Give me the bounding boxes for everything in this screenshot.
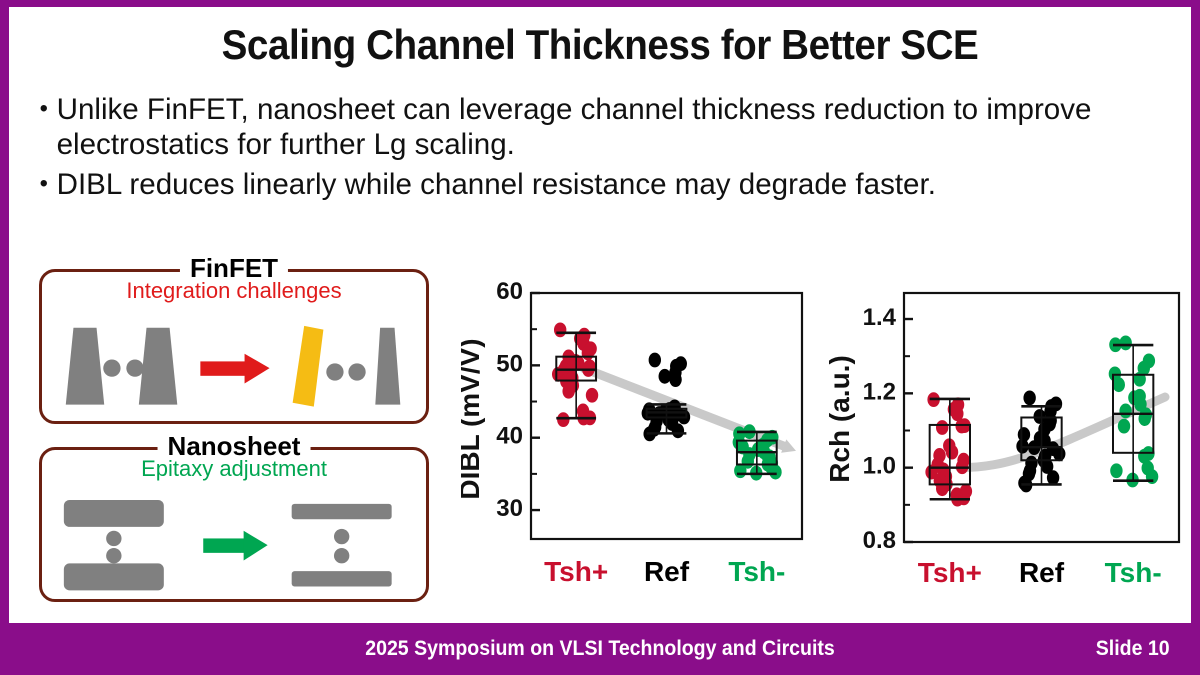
nanosheet-bar [292,571,392,586]
data-point [769,465,781,480]
data-point [672,423,684,438]
x-axis-category-label[interactable]: Tsh+ [918,557,982,588]
data-point [1118,419,1130,434]
series-group-Tsh+ [925,392,972,506]
x-axis-category-label[interactable]: Ref [644,556,690,587]
bullet-item: • Unlike FinFET, nanosheet can leverage … [31,93,1164,162]
fin-shape [375,328,400,405]
boxplot-Tsh+ [930,399,970,499]
y-axis-label: DIBL (mV/V) [461,338,485,499]
data-point [557,412,569,427]
bullet-marker-icon: • [31,168,57,200]
page-title: Scaling Channel Thickness for Better SCE [56,21,1143,69]
data-point [1110,463,1122,478]
data-point [1053,446,1065,461]
green-arrow-icon [203,531,267,561]
red-arrow-icon [200,354,269,384]
data-point [734,463,746,478]
data-point [582,346,594,361]
nanosheet-diagram-panel: Nanosheet Epitaxy adjustment [39,447,429,602]
channel-dot-icon [348,363,365,380]
channel-dot-icon [334,548,349,563]
bullet-text: DIBL reduces linearly while channel resi… [57,168,1164,203]
y-axis-label: Rch (a.u.) [829,355,855,483]
y-axis-tick-label: 0.8 [863,527,896,554]
dibl-boxplot-chart: 30405060DIBL (mV/V)Tsh+RefTsh- [461,269,821,599]
data-point [659,369,671,384]
nanosheet-bar [64,500,164,527]
x-axis-category-label[interactable]: Tsh- [1105,557,1162,588]
bullet-item: • DIBL reduces linearly while channel re… [31,168,1164,203]
data-point [554,323,566,338]
channel-dot-icon [103,359,120,376]
x-axis-category-label[interactable]: Ref [1019,557,1065,588]
tilted-fin-shape [293,326,324,407]
nanosheet-art [42,450,426,599]
data-point [946,445,958,460]
fin-shape [66,328,104,405]
data-point [1119,404,1131,419]
nanosheet-bar [292,504,392,519]
slide-footer: 2025 Symposium on VLSI Technology and Ci… [0,623,1200,675]
channel-dot-icon [106,531,121,546]
y-axis-tick-label: 60 [496,278,523,305]
x-axis-category-label[interactable]: Tsh+ [544,556,608,587]
footer-conference-text: 2025 Symposium on VLSI Technology and Ci… [42,637,1158,661]
finfet-diagram-panel: FinFET Integration challenges [39,269,429,424]
y-axis-tick-label: 50 [496,350,523,377]
data-point [649,353,661,368]
data-point [955,419,967,434]
y-axis-tick-label: 1.2 [863,378,896,405]
x-axis-category-label[interactable]: Tsh- [728,556,785,587]
rch-boxplot-chart: 0.81.01.21.4Rch (a.u.)Tsh+RefTsh- [829,269,1199,599]
channel-dot-icon [326,363,343,380]
finfet-art [42,272,426,421]
y-axis-tick-label: 40 [496,423,523,450]
data-point [936,420,948,435]
fin-shape [139,328,177,405]
y-axis-tick-label: 30 [496,495,523,522]
data-point [669,372,681,387]
slide-root: Scaling Channel Thickness for Better SCE… [0,0,1200,675]
y-axis-tick-label: 1.4 [863,304,897,331]
y-axis-tick-label: 1.0 [863,453,896,480]
bullet-text: Unlike FinFET, nanosheet can leverage ch… [57,93,1164,162]
channel-dot-icon [126,359,143,376]
data-point [1047,470,1059,485]
channel-dot-icon [334,529,349,544]
bullet-list: • Unlike FinFET, nanosheet can leverage … [31,93,1181,209]
data-point [1023,391,1035,406]
nanosheet-bar [64,563,164,590]
data-point [1113,377,1125,392]
footer-slide-number: Slide 10 [1095,637,1169,661]
data-point [562,384,574,399]
series-group-Tsh+ [552,323,598,428]
channel-dot-icon [106,548,121,563]
bullet-marker-icon: • [31,93,57,125]
data-point [586,388,598,403]
